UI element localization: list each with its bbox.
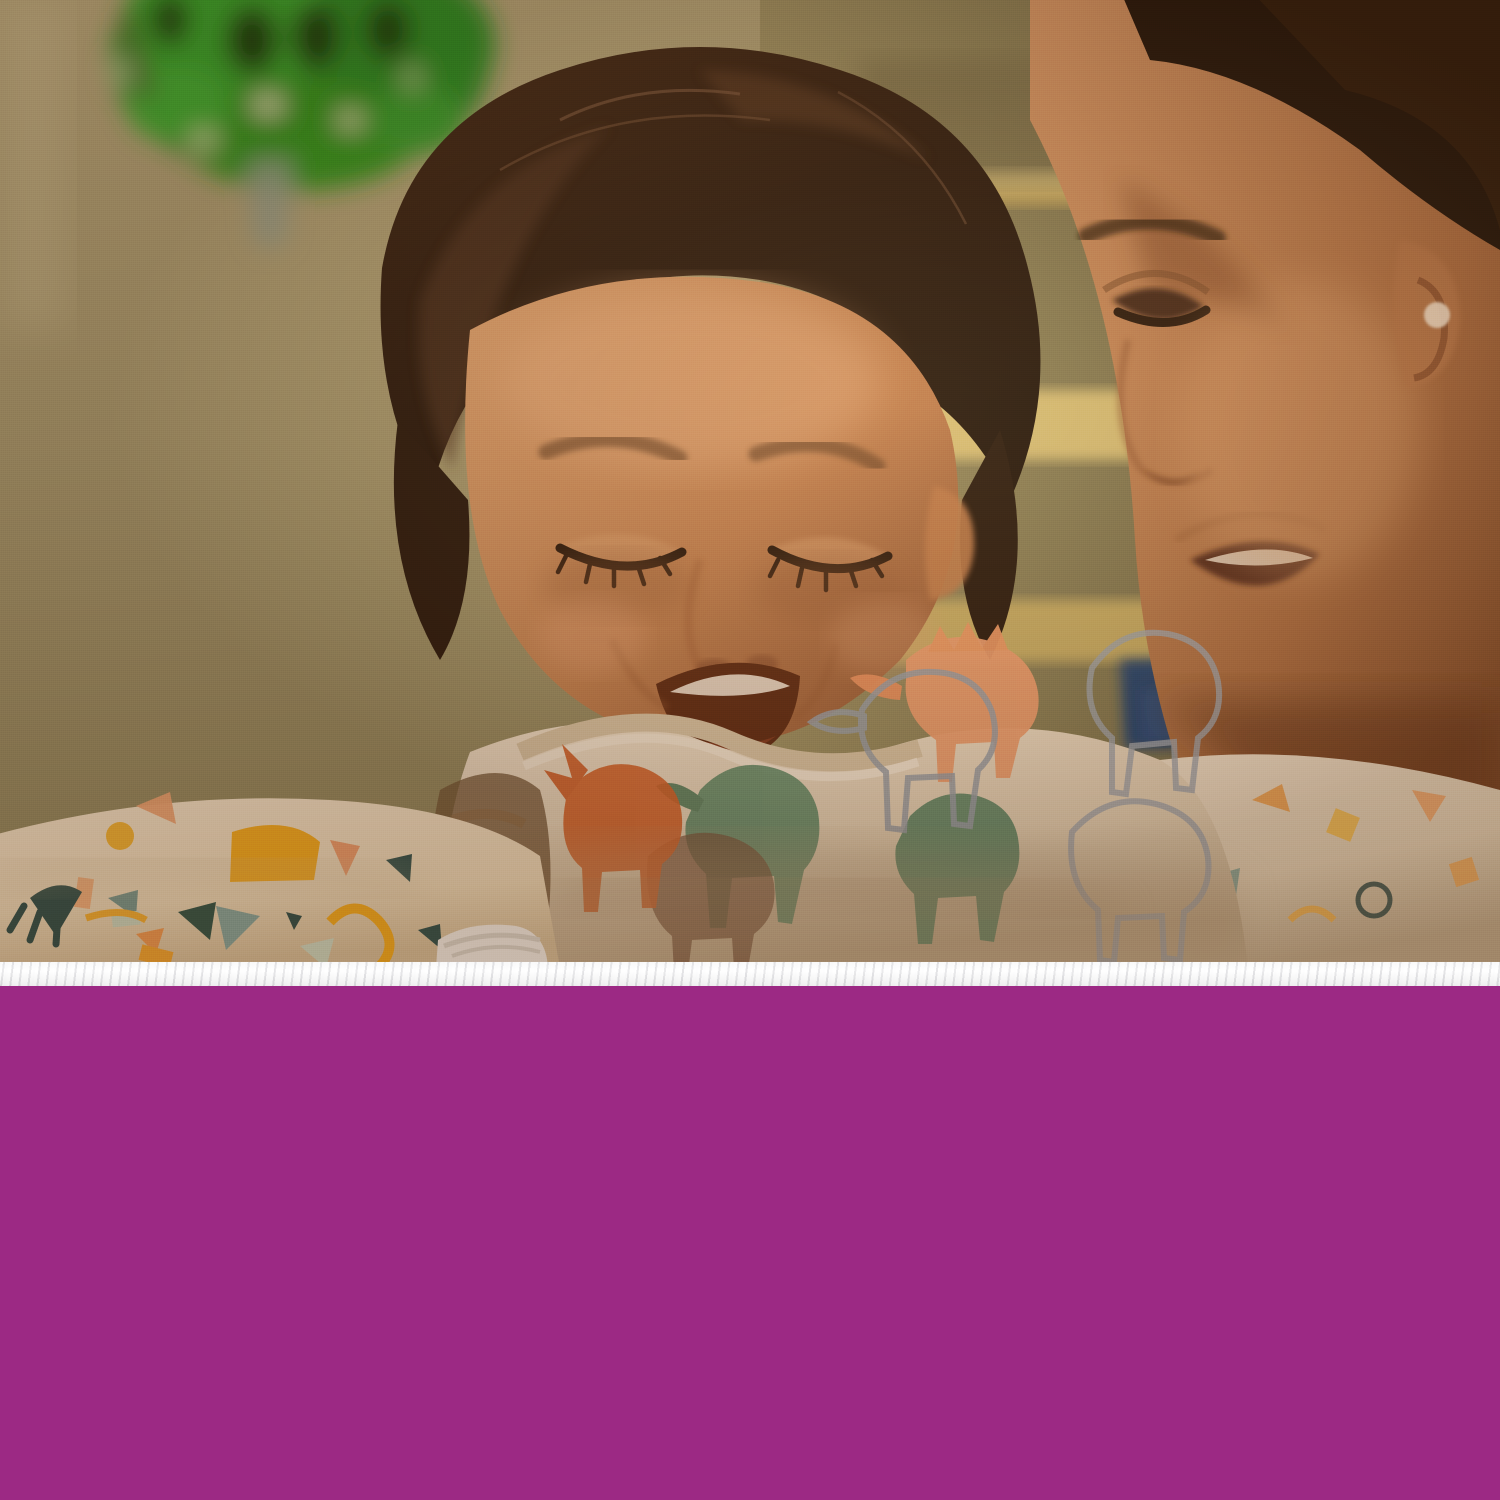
photo-illustration bbox=[0, 0, 1500, 968]
paper-fiber-texture bbox=[0, 962, 1500, 988]
torn-paper-divider bbox=[0, 962, 1500, 988]
claims-panel: None of the bad stuff. bbox=[0, 986, 1500, 1500]
lifestyle-photo bbox=[0, 0, 1500, 968]
marketing-image: None of the bad stuff. bbox=[0, 0, 1500, 1500]
